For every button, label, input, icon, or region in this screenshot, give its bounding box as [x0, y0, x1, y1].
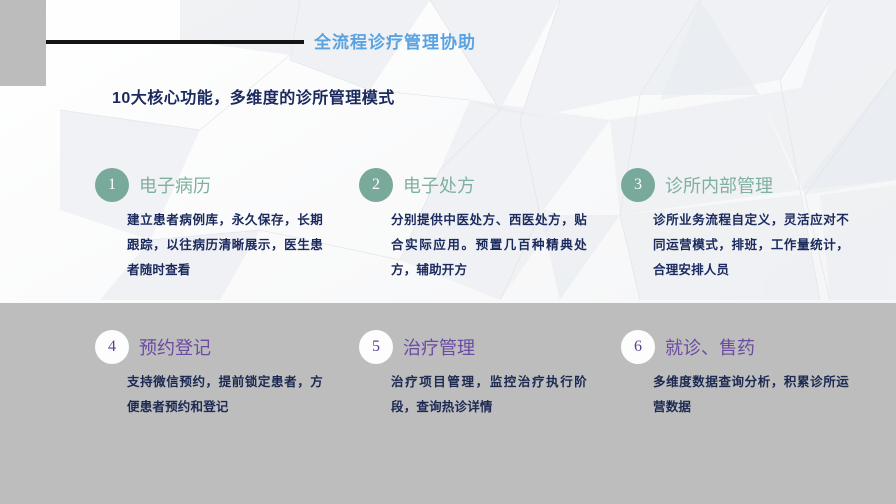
feature-number-badge-6: 6	[621, 330, 655, 364]
feature-header: 2 电子处方	[359, 168, 599, 202]
header-rule	[46, 40, 304, 44]
feature-header: 4 预约登记	[95, 330, 335, 364]
feature-body-5: 治疗项目管理，监控治疗执行阶段，查询热诊详情	[391, 370, 587, 420]
slide-canvas: 全流程诊疗管理协助 10大核心功能，多维度的诊所管理模式 1 电子病历 建立患者…	[0, 0, 896, 504]
feature-item-2[interactable]: 2 电子处方 分别提供中医处方、西医处方，贴合实际应用。预置几百种精典处方，辅助…	[359, 168, 599, 283]
feature-body-6: 多维度数据查询分析，积累诊所运营数据	[653, 370, 849, 420]
feature-title-5: 治疗管理	[403, 334, 475, 360]
feature-header: 1 电子病历	[95, 168, 335, 202]
feature-number-badge-3: 3	[621, 168, 655, 202]
feature-item-4[interactable]: 4 预约登记 支持微信预约，提前锁定患者，方便患者预约和登记	[95, 330, 335, 420]
feature-number-badge-2: 2	[359, 168, 393, 202]
feature-item-3[interactable]: 3 诊所内部管理 诊所业务流程自定义，灵活应对不同运营模式，排班，工作量统计，合…	[621, 168, 861, 283]
corner-accent-block	[0, 0, 46, 86]
feature-body-4: 支持微信预约，提前锁定患者，方便患者预约和登记	[127, 370, 323, 420]
feature-body-2: 分别提供中医处方、西医处方，贴合实际应用。预置几百种精典处方，辅助开方	[391, 208, 587, 283]
feature-body-3: 诊所业务流程自定义，灵活应对不同运营模式，排班，工作量统计，合理安排人员	[653, 208, 849, 283]
feature-body-1: 建立患者病例库，永久保存，长期跟踪，以往病历清晰展示，医生患者随时查看	[127, 208, 323, 283]
header-title: 全流程诊疗管理协助	[314, 28, 476, 53]
feature-number-badge-4: 4	[95, 330, 129, 364]
feature-header: 6 就诊、售药	[621, 330, 861, 364]
page-subtitle: 10大核心功能，多维度的诊所管理模式	[112, 84, 395, 108]
feature-title-6: 就诊、售药	[665, 334, 755, 360]
feature-title-2: 电子处方	[403, 172, 475, 198]
feature-number-badge-5: 5	[359, 330, 393, 364]
feature-item-6[interactable]: 6 就诊、售药 多维度数据查询分析，积累诊所运营数据	[621, 330, 861, 420]
feature-title-3: 诊所内部管理	[665, 172, 773, 198]
feature-row-bottom: 4 预约登记 支持微信预约，提前锁定患者，方便患者预约和登记 5 治疗管理 治疗…	[0, 330, 896, 420]
feature-title-1: 电子病历	[139, 172, 211, 198]
feature-number-badge-1: 1	[95, 168, 129, 202]
feature-item-1[interactable]: 1 电子病历 建立患者病例库，永久保存，长期跟踪，以往病历清晰展示，医生患者随时…	[95, 168, 335, 283]
feature-header: 3 诊所内部管理	[621, 168, 861, 202]
feature-header: 5 治疗管理	[359, 330, 599, 364]
feature-row-top: 1 电子病历 建立患者病例库，永久保存，长期跟踪，以往病历清晰展示，医生患者随时…	[0, 168, 896, 283]
feature-item-5[interactable]: 5 治疗管理 治疗项目管理，监控治疗执行阶段，查询热诊详情	[359, 330, 599, 420]
feature-title-4: 预约登记	[139, 334, 211, 360]
